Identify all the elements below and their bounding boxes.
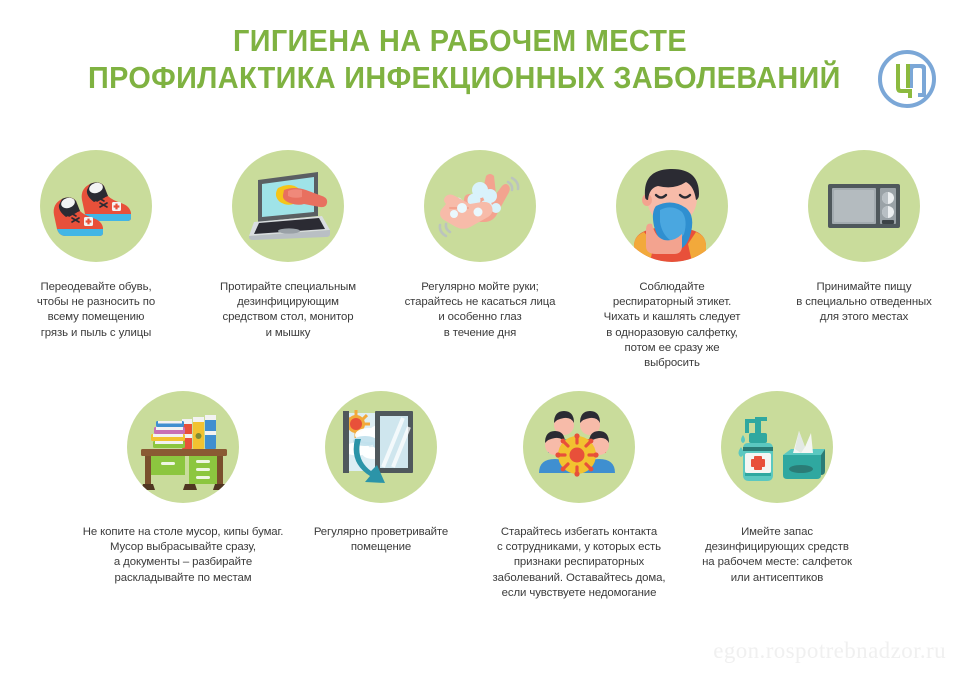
tip-caption: Имейте запас дезинфицирующих средств на … — [669, 525, 885, 586]
icon-circle — [523, 391, 635, 503]
tip-card-wash-hands: Регулярно мойте руки; старайтесь не каса… — [384, 150, 576, 371]
tip-card-change-shoes: Переодевайте обувь, чтобы не разносить п… — [0, 150, 192, 371]
title-line-1: ГИГИЕНА НА РАБОЧЕМ МЕСТЕ — [88, 22, 832, 59]
tip-caption: Соблюдайте респираторный этикет. Чихать … — [577, 280, 767, 371]
icon-circle — [127, 391, 239, 503]
microwave-icon — [808, 150, 920, 262]
icon-circle — [325, 391, 437, 503]
washing-hands-icon — [424, 150, 536, 262]
tip-card-avoid-contact: Старайтесь избегать контакта с сотрудник… — [480, 391, 678, 601]
tip-caption: Регулярно проветривайте помещение — [295, 525, 467, 555]
tip-caption: Старайтесь избегать контакта с сотрудник… — [466, 525, 692, 601]
tip-caption: Принимайте пищу в специально отведенных … — [773, 280, 955, 326]
laptop-wipe-icon — [232, 150, 344, 262]
sneakers-icon — [40, 150, 152, 262]
tip-card-keep-desk-clean: Не копите на столе мусор, кипы бумаг. Му… — [84, 391, 282, 601]
tip-card-eat-in-designated-areas: Принимайте пищу в специально отведенных … — [768, 150, 960, 371]
title-line-2: ПРОФИЛАКТИКА ИНФЕКЦИОННЫХ ЗАБОЛЕВАНИЙ — [88, 59, 832, 96]
poster-header: ГИГИЕНА НА РАБОЧЕМ МЕСТЕ ПРОФИЛАКТИКА ИН… — [0, 22, 960, 112]
icon-circle — [721, 391, 833, 503]
infographic-poster: ГИГИЕНА НА РАБОЧЕМ МЕСТЕ ПРОФИЛАКТИКА ИН… — [0, 0, 960, 678]
icon-circle — [40, 150, 152, 262]
desk-with-papers-icon — [127, 391, 239, 503]
page-title: ГИГИЕНА НА РАБОЧЕМ МЕСТЕ ПРОФИЛАКТИКА ИН… — [60, 22, 860, 96]
icon-circle — [808, 150, 920, 262]
tip-card-respiratory-etiquette: Соблюдайте респираторный этикет. Чихать … — [576, 150, 768, 371]
rospotrebnadzor-logo-icon — [876, 48, 938, 110]
tip-caption: Протирайте специальным дезинфицирующим с… — [199, 280, 377, 341]
icon-circle — [424, 150, 536, 262]
watermark: egon.rospotrebnadzor.ru — [713, 638, 946, 664]
tips-row-2: Не копите на столе мусор, кипы бумаг. Му… — [0, 391, 960, 601]
sneezing-person-icon — [616, 150, 728, 262]
icon-circle — [232, 150, 344, 262]
tip-caption: Переодевайте обувь, чтобы не разносить п… — [10, 280, 182, 341]
tip-caption: Не копите на столе мусор, кипы бумаг. Му… — [64, 525, 302, 586]
people-virus-contact-icon — [523, 391, 635, 503]
sanitizer-tissues-icon — [721, 391, 833, 503]
tip-caption: Регулярно мойте руки; старайтесь не каса… — [380, 280, 580, 341]
open-window-airflow-icon — [325, 391, 437, 503]
tip-card-ventilate-room: Регулярно проветривайте помещение — [282, 391, 480, 601]
tip-card-wipe-desk: Протирайте специальным дезинфицирующим с… — [192, 150, 384, 371]
icon-circle — [616, 150, 728, 262]
tip-card-keep-sanitizer-supply: Имейте запас дезинфицирующих средств на … — [678, 391, 876, 601]
tips-row-1: Переодевайте обувь, чтобы не разносить п… — [0, 150, 960, 371]
